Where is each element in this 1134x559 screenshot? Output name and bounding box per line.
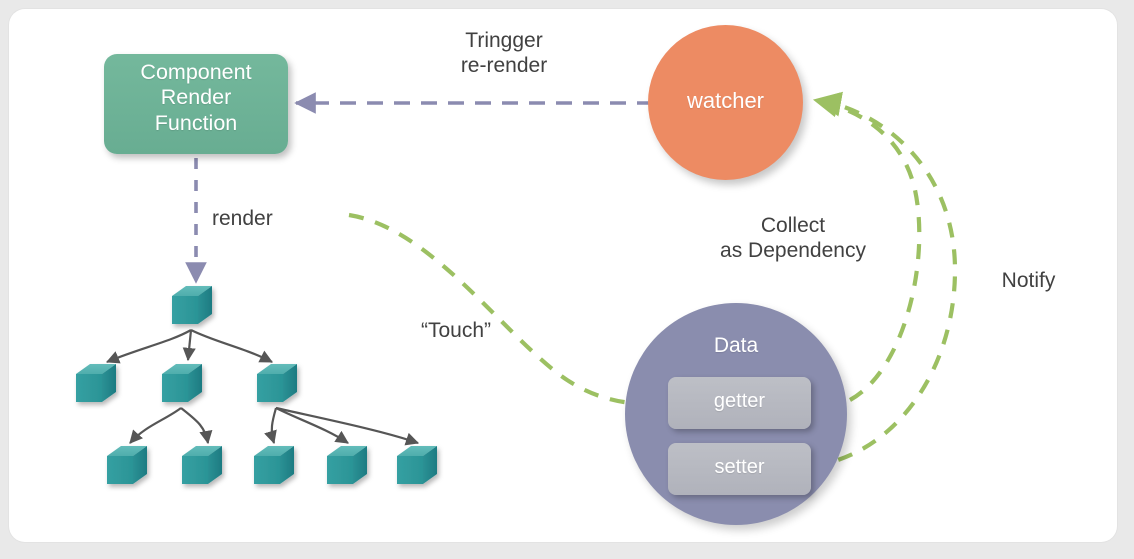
- tree-nodes: [76, 286, 437, 484]
- watcher-node[interactable]: [648, 25, 803, 180]
- tree-node-cube: [254, 446, 294, 484]
- tree-node-cube: [107, 446, 147, 484]
- setter-node[interactable]: [668, 443, 811, 495]
- trigger-rerender-label: Tringger re-render: [418, 28, 590, 78]
- collect-as-dependency-label: Collect as Dependency: [694, 213, 892, 263]
- getter-node[interactable]: [668, 377, 811, 429]
- tree-node-cube: [172, 286, 212, 324]
- touch-label: “Touch”: [398, 318, 514, 343]
- component-render-function-node[interactable]: [104, 54, 288, 154]
- tree-node-cube: [397, 446, 437, 484]
- tree-node-cube: [76, 364, 116, 402]
- tree-node-cube: [182, 446, 222, 484]
- render-label: render: [212, 206, 306, 231]
- diagram-canvas: Component Render Function watcher Data g…: [0, 0, 1134, 559]
- tree-node-cube: [162, 364, 202, 402]
- notify-label: Notify: [962, 268, 1095, 293]
- tree-node-cube: [327, 446, 367, 484]
- edge-touch: [349, 215, 660, 404]
- tree-node-cube: [257, 364, 297, 402]
